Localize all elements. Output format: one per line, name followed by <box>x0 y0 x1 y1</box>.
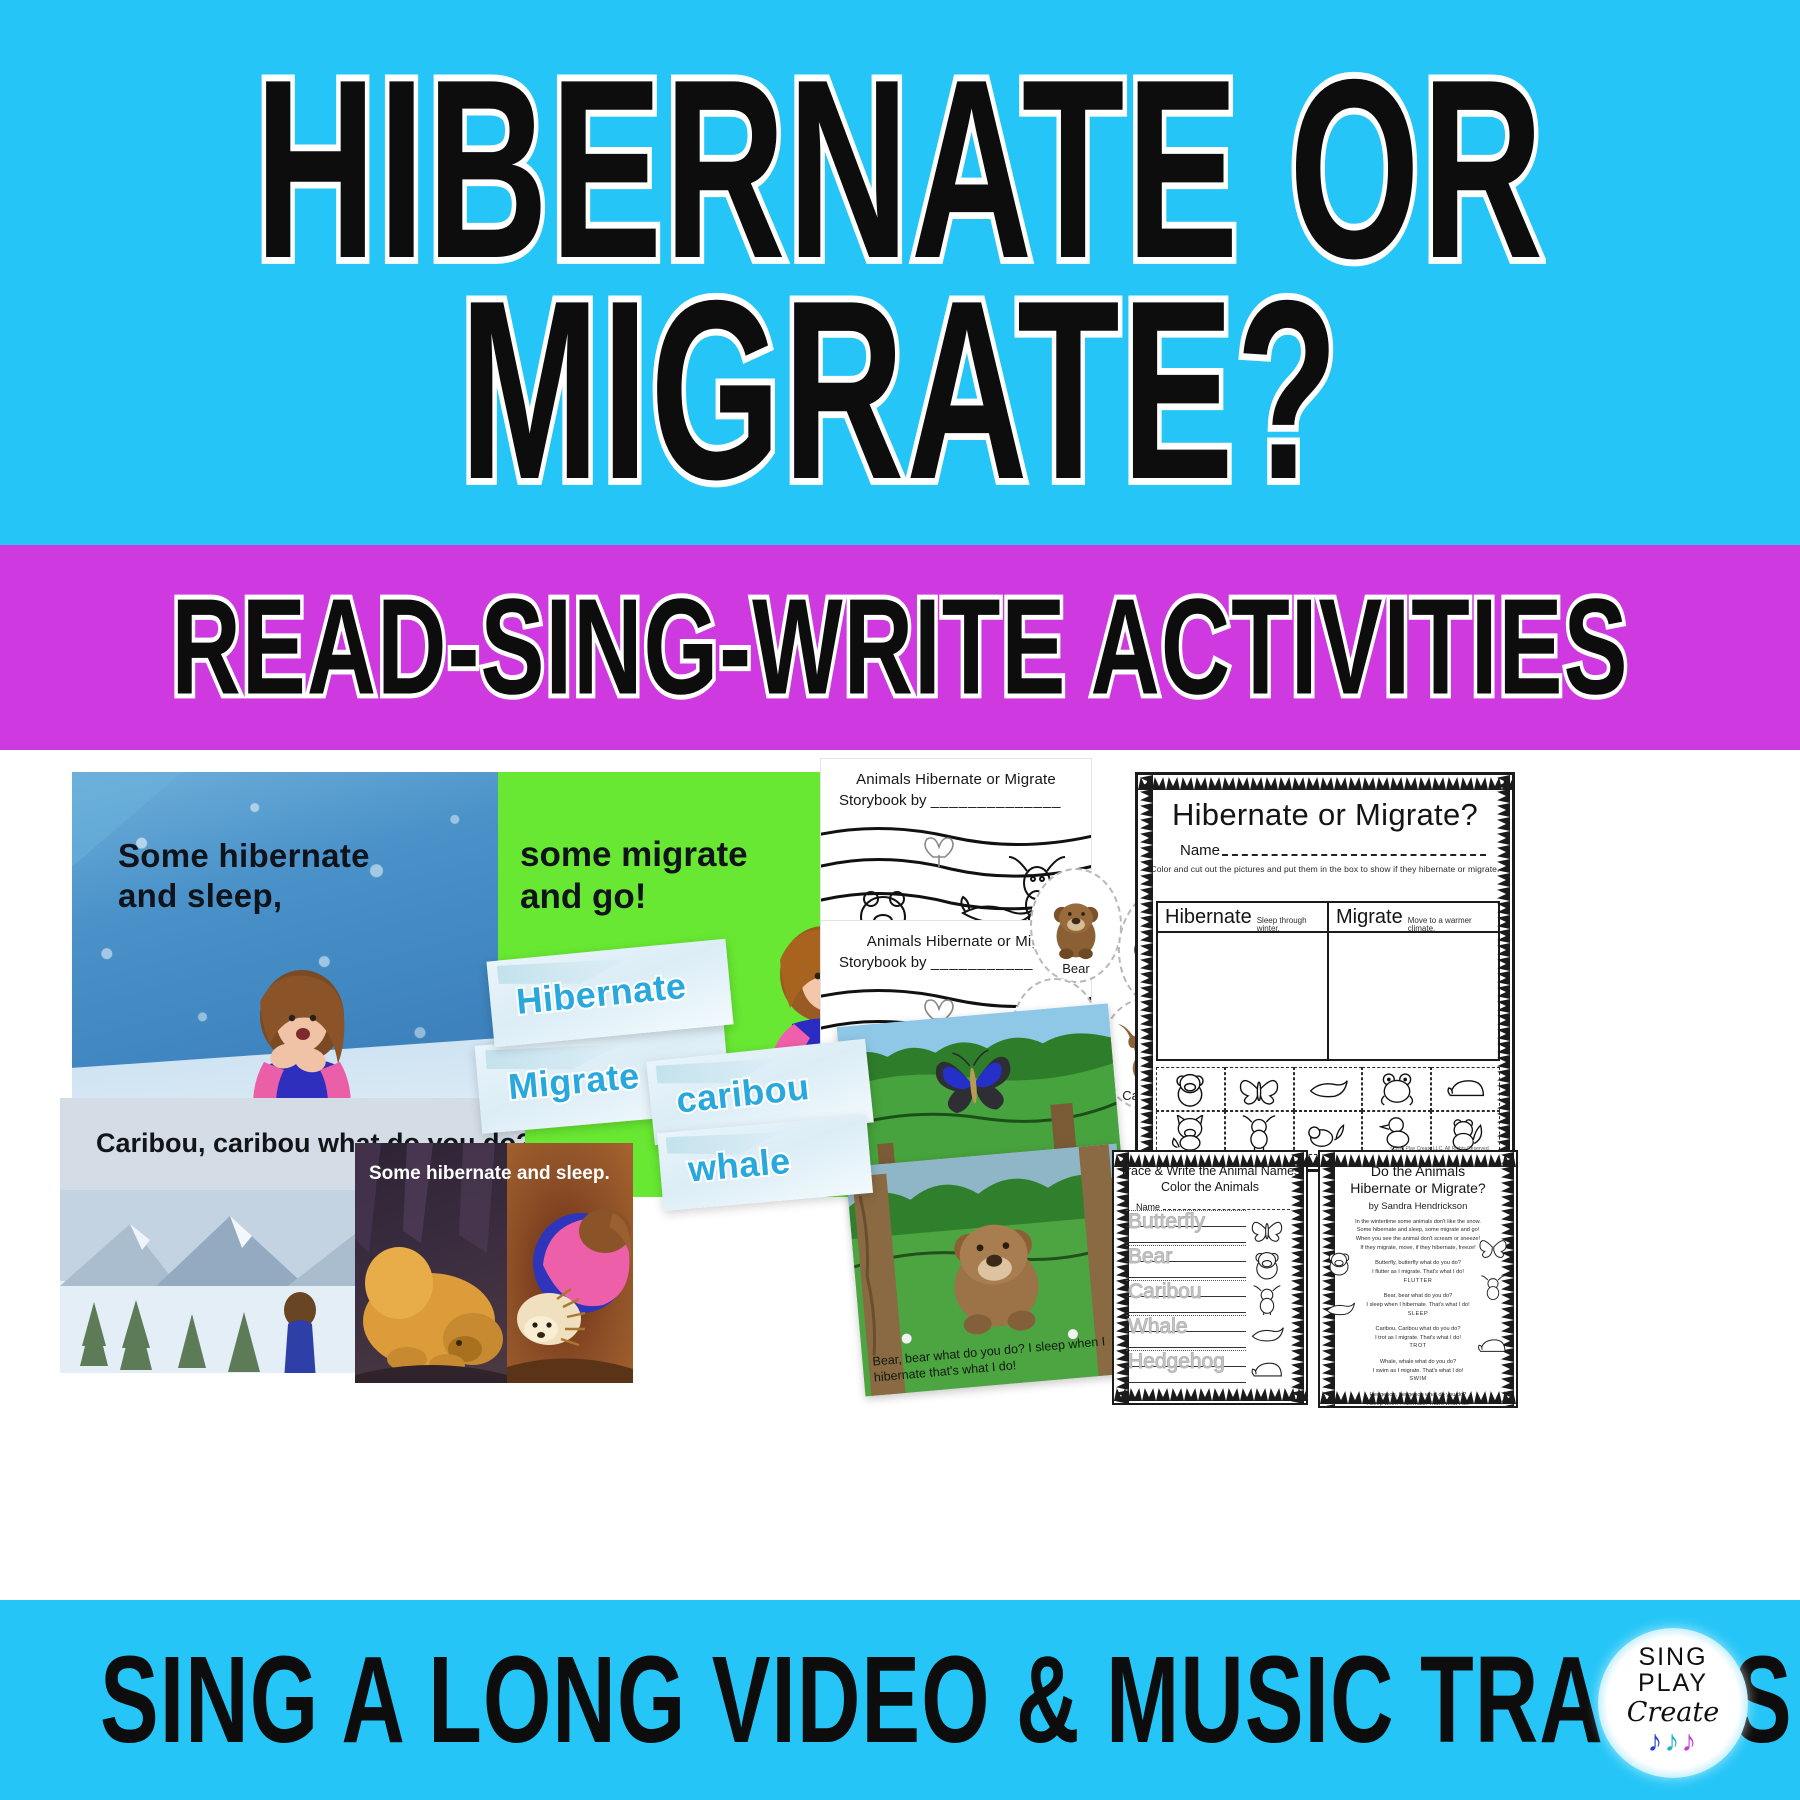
cutout-animal-grid <box>1156 1067 1500 1155</box>
name-label: Name <box>1180 842 1220 859</box>
word-card-label: Migrate <box>507 1055 642 1108</box>
bear-outline-icon <box>1250 1249 1284 1280</box>
trace-row[interactable]: Whale <box>1126 1315 1246 1348</box>
storybook-title: Animals Hibernate or Migrate <box>821 771 1091 788</box>
bear-icon <box>1045 897 1107 961</box>
oval-label: Bear <box>1062 961 1089 976</box>
decorative-border-bottom <box>1114 1388 1306 1401</box>
grid-cell-hedgehog[interactable] <box>1431 1067 1500 1111</box>
trace-word: Hedgehog <box>1128 1350 1225 1374</box>
worksheet-hibernate-or-migrate[interactable]: Hibernate or Migrate? Name Color and cut… <box>1135 772 1515 1172</box>
grid-cell-caribou[interactable] <box>1225 1111 1294 1155</box>
trace-row[interactable]: Hedgehog <box>1126 1350 1246 1383</box>
song-verse-whale: Whale, whale what do you do? I swim as I… <box>1320 1358 1516 1384</box>
bottom-banner-text: SING A LONG VIDEO & MUSIC TRACKS <box>100 1629 1793 1772</box>
sorting-table: Hibernate Sleep through winter. Migrate … <box>1156 901 1500 1061</box>
song-title: Do the Animals Hibernate or Migrate? <box>1320 1163 1516 1197</box>
worksheet-title: Hibernate or Migrate? <box>1138 797 1512 833</box>
decorative-border-top <box>1138 777 1512 790</box>
brand-logo: SING PLAY Create ♪♪♪ <box>1598 1628 1748 1778</box>
music-notes-icon: ♪♪♪ <box>1648 1727 1699 1757</box>
whale-outline-icon <box>1249 1325 1285 1344</box>
trace-icon-slot <box>1238 1352 1296 1387</box>
trace-word: Bear <box>1128 1245 1172 1269</box>
word-card-label: whale <box>686 1140 792 1191</box>
fox-outline-icon <box>1170 1115 1210 1151</box>
whale-outline-icon <box>1307 1078 1349 1100</box>
grid-cell-frog[interactable] <box>1362 1067 1431 1111</box>
word-card-label: Hibernate <box>514 965 688 1023</box>
duck-outline-icon <box>1379 1116 1415 1150</box>
trace-row[interactable]: Caribou <box>1126 1280 1246 1313</box>
verse-call: Caribou, Caribou what do you do? <box>1376 1326 1461 1332</box>
word-card-label: caribou <box>674 1066 811 1122</box>
worksheet-instructions: Color and cut out the pictures and put t… <box>1138 864 1512 874</box>
whale-outline-icon <box>1324 1300 1356 1318</box>
subtitle-text: READ-SING-WRITE ACTIVITIES <box>171 569 1628 725</box>
caribou-outline-icon <box>1480 1274 1506 1302</box>
decorative-border-left <box>1322 1152 1335 1406</box>
intro-line: If they migrate, move, if they hibernate… <box>1360 1245 1475 1251</box>
trace-icon-slot <box>1238 1212 1296 1247</box>
decorative-border-left <box>1140 775 1153 1169</box>
column-heading: Migrate <box>1336 906 1403 929</box>
trace-title-line-2: Color the Animals <box>1161 1180 1259 1194</box>
page-title-line-2: MIGRATE? <box>460 272 1341 507</box>
trace-icon-slot <box>1238 1282 1296 1317</box>
grid-cell-fox[interactable] <box>1156 1111 1225 1155</box>
column-subheading: Move to a warmer climate. <box>1408 917 1493 934</box>
butterfly-outline-icon <box>1239 1073 1279 1106</box>
caribou-outline-icon <box>1241 1115 1277 1151</box>
trace-icon-slot <box>1238 1317 1296 1352</box>
trace-worksheet-title: Trace & Write the Animal Names Color the… <box>1114 1164 1306 1195</box>
verse-call: Whale, whale what do you do? <box>1380 1359 1456 1365</box>
storybook-byline: Storybook by ______________ <box>839 792 1091 809</box>
caribou-outline-icon <box>1252 1285 1282 1315</box>
verse-call: Bear, bear what do you do? <box>1384 1293 1452 1299</box>
intro-line: Some hibernate and sleep, some migrate a… <box>1357 1227 1480 1233</box>
verse-action: FLUTTER <box>1404 1278 1433 1284</box>
product-collage: Some hibernateand sleep, some migrateand… <box>0 750 1800 1600</box>
trace-rows: Butterfly Bear Caribou Whale Hedgehog <box>1126 1210 1246 1385</box>
photo-dark-hibernate-pair: Some hibernate and sleep. <box>355 1143 633 1383</box>
logo-line-sing: SING <box>1638 1645 1707 1670</box>
decorative-border-top <box>1320 1154 1516 1167</box>
verse-answer: I swim as I migrate. That's what I do! <box>1373 1368 1464 1374</box>
grid-cell-whale[interactable] <box>1294 1067 1363 1111</box>
verse-action: SWIM <box>1409 1376 1426 1382</box>
grid-cell-skunk[interactable] <box>1294 1111 1363 1155</box>
caption-dark: Some hibernate and sleep. <box>369 1163 610 1185</box>
butterfly-outline-icon <box>1250 1216 1284 1243</box>
decorative-border-top <box>1114 1154 1306 1167</box>
intro-line: When you see the animal don't scream or … <box>1356 1236 1480 1242</box>
butterfly-outline-icon <box>1478 1234 1508 1260</box>
storybook-page-bear: Bear, bear what do you do? I sleep when … <box>845 1144 1136 1397</box>
trace-word: Whale <box>1128 1315 1188 1339</box>
frog-outline-icon <box>1377 1072 1417 1107</box>
column-migrate[interactable]: Migrate Move to a warmer climate. <box>1327 903 1498 1059</box>
bear-outline-icon <box>1170 1071 1210 1107</box>
subtitle-banner: READ-SING-WRITE ACTIVITIES <box>0 545 1800 750</box>
caption-green: some migrateand go! <box>520 834 820 918</box>
name-blank-line <box>1222 854 1486 856</box>
trace-row[interactable]: Butterfly <box>1126 1210 1246 1243</box>
verse-answer: I trot as I migrate. That's what I do! <box>1375 1335 1461 1341</box>
verse-action: SLEEP <box>1408 1311 1429 1317</box>
verse-answer: I sleep when I hibernate. That's what I … <box>1366 1302 1469 1308</box>
verse-answer: I flutter as I migrate. That's what I do… <box>1372 1269 1464 1275</box>
verse-action: TROT <box>1409 1343 1426 1349</box>
logo-line-play: PLAY <box>1638 1670 1708 1696</box>
column-header: Hibernate Sleep through winter. <box>1158 903 1327 933</box>
worksheet-song-lyrics[interactable]: Do the Animals Hibernate or Migrate? by … <box>1318 1150 1518 1408</box>
bear-outline-icon <box>1324 1250 1354 1276</box>
column-subheading: Sleep through winter. <box>1257 917 1322 934</box>
hedgehog-outline-icon <box>1476 1336 1508 1356</box>
worksheet-name-field[interactable]: Name <box>1180 842 1512 859</box>
trace-row[interactable]: Bear <box>1126 1245 1246 1278</box>
decorative-border-bottom <box>1320 1391 1516 1404</box>
bottom-banner: SING A LONG VIDEO & MUSIC TRACKS SING PL… <box>0 1600 1800 1800</box>
logo-line-create: Create <box>1627 1697 1719 1728</box>
song-title-line-2: Hibernate or Migrate? <box>1350 1180 1485 1196</box>
column-hibernate[interactable]: Hibernate Sleep through winter. <box>1158 903 1327 1059</box>
trace-animal-icons <box>1238 1212 1296 1387</box>
hedgehog-outline-icon <box>1445 1075 1487 1103</box>
caption-snow: Some hibernateand sleep, <box>118 836 448 917</box>
song-author: by Sandra Hendrickson <box>1320 1201 1516 1212</box>
grid-cell-butterfly[interactable] <box>1225 1067 1294 1111</box>
skunk-outline-icon <box>1307 1118 1349 1149</box>
verse-call: Butterfly, butterfly what do you do? <box>1375 1260 1461 1266</box>
trace-icon-slot <box>1238 1247 1296 1282</box>
title-banner: HIBERNATE OR MIGRATE? <box>0 0 1800 545</box>
worksheet-trace-and-write[interactable]: Trace & Write the Animal Names Color the… <box>1112 1150 1308 1405</box>
cutout-oval-bear[interactable]: Bear <box>1030 868 1122 983</box>
grid-cell-bear[interactable] <box>1156 1067 1225 1111</box>
intro-line: In the wintertime some animals don't lik… <box>1355 1219 1481 1225</box>
column-header: Migrate Move to a warmer climate. <box>1329 903 1498 933</box>
trace-word: Caribou <box>1128 1280 1202 1304</box>
trace-word: Butterfly <box>1128 1210 1205 1234</box>
hedgehog-outline-icon <box>1249 1359 1285 1381</box>
column-heading: Hibernate <box>1165 906 1252 929</box>
